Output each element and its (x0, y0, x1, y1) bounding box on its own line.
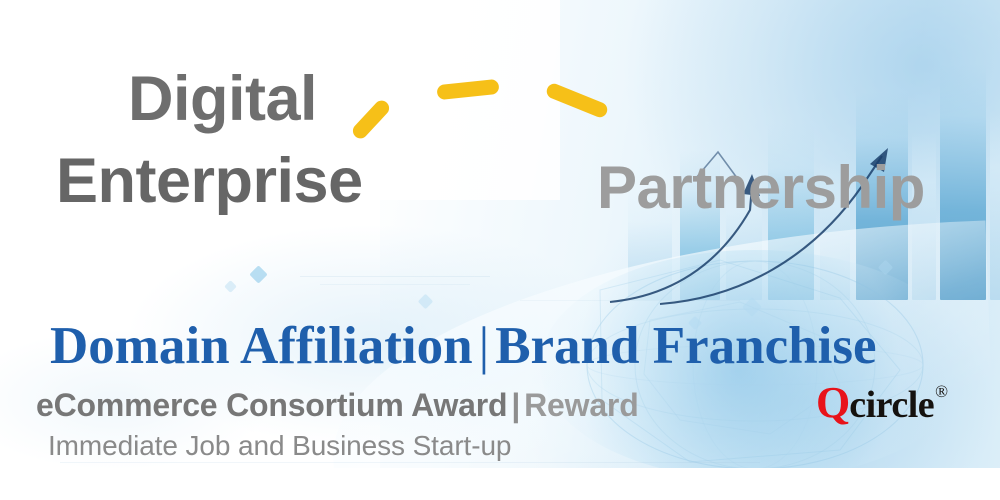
logo-wordmark: circle (849, 384, 934, 426)
headline-left: Domain Affiliation (50, 317, 473, 375)
diamond-chip (224, 280, 237, 293)
bar-chart-graphic (620, 0, 1000, 300)
wordmark-enterprise: Enterprise (56, 150, 363, 213)
subline: eCommerce Consortium Award|Reward (36, 387, 639, 424)
headline: Domain Affiliation|Brand Franchise (50, 316, 877, 376)
hairline (520, 300, 740, 301)
diamond-chip (878, 260, 894, 276)
hairline (60, 462, 760, 463)
tagline: Immediate Job and Business Start-up (48, 430, 511, 462)
wordmark-digital: Digital (128, 68, 317, 131)
wordmark-partnership: Partnership (597, 158, 925, 218)
qcircle-logo[interactable]: Qcircle® (816, 381, 947, 425)
diamond-chip (742, 297, 762, 317)
promotional-banner: Digital Enterprise Partnership Domain Af… (0, 0, 1000, 500)
arc-segment-left-icon (350, 98, 392, 142)
headline-divider: | (473, 317, 496, 375)
subline-divider: | (507, 387, 524, 423)
white-base-band (0, 468, 1000, 500)
subline-left: eCommerce Consortium Award (36, 387, 507, 423)
hairline (320, 284, 470, 285)
subline-right: Reward (524, 387, 638, 423)
arc-segment-right-icon (545, 82, 610, 120)
registered-trademark-icon: ® (935, 382, 948, 401)
headline-right: Brand Franchise (495, 317, 876, 375)
logo-q-mark: Q (816, 378, 849, 427)
diamond-chip (249, 265, 267, 283)
arc-segment-center-icon (436, 79, 499, 100)
diamond-chip (418, 294, 434, 310)
hairline (300, 276, 490, 277)
